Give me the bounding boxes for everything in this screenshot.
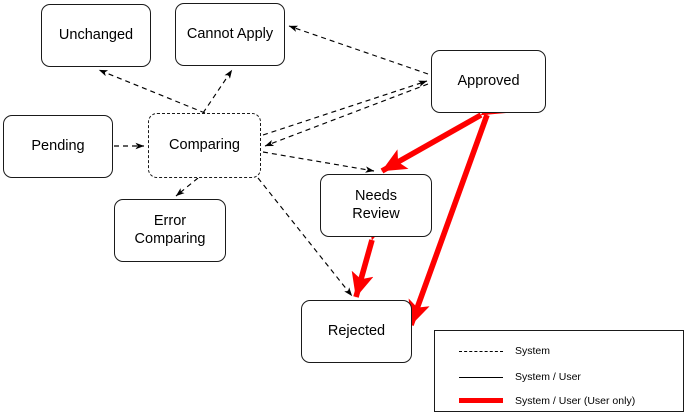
solid-line-icon — [459, 371, 503, 383]
thick-red-line-icon — [459, 395, 503, 407]
node-comparing[interactable]: Comparing — [148, 113, 261, 178]
legend-item-system-user-only: System / User (User only) — [459, 393, 635, 409]
node-cannot-apply[interactable]: Cannot Apply — [175, 3, 285, 66]
node-label: Pending — [31, 138, 84, 156]
dashed-line-icon — [459, 345, 503, 357]
node-label: Comparing — [169, 137, 240, 155]
node-error-comparing[interactable]: Error Comparing — [114, 199, 226, 262]
legend: System System / User System / User (User… — [434, 330, 684, 412]
node-label: Rejected — [328, 323, 385, 341]
legend-item-system-user: System / User — [459, 369, 581, 385]
diagram-canvas: Unchanged Cannot Apply Approved Pending … — [0, 0, 691, 420]
node-label-line2: Comparing — [135, 231, 206, 249]
node-label-line2: Review — [352, 206, 400, 224]
legend-item-system: System — [459, 343, 550, 359]
edge-needs-review-rejected — [356, 240, 372, 297]
node-label: Approved — [457, 73, 519, 91]
node-label: Unchanged — [59, 27, 133, 45]
node-unchanged[interactable]: Unchanged — [41, 4, 151, 67]
edge-approved-needs-review — [382, 115, 481, 171]
legend-label: System / User — [515, 371, 581, 383]
node-approved[interactable]: Approved — [431, 50, 546, 113]
node-label: Cannot Apply — [187, 26, 273, 44]
node-needs-review[interactable]: Needs Review — [320, 174, 432, 237]
node-rejected[interactable]: Rejected — [301, 300, 412, 363]
node-label-line1: Error — [135, 213, 206, 231]
legend-label: System / User (User only) — [515, 395, 635, 407]
node-label-line1: Needs — [352, 188, 400, 206]
node-pending[interactable]: Pending — [3, 115, 113, 178]
legend-label: System — [515, 345, 550, 357]
